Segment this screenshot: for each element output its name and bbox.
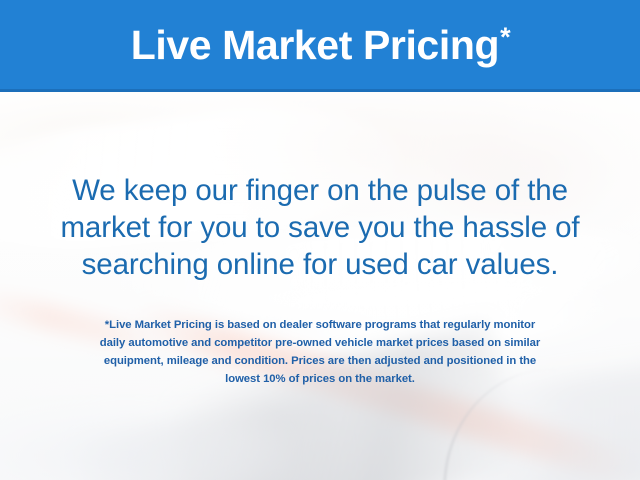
live-market-pricing-banner: Live Market Pricing* We keep our finger … xyxy=(0,0,640,480)
headline-line-3: searching online for used car values. xyxy=(0,246,640,283)
headline-line-1: We keep our finger on the pulse of the xyxy=(0,172,640,209)
page-title-text: Live Market Pricing xyxy=(131,22,499,68)
page-title-asterisk: * xyxy=(500,22,510,52)
disclaimer-line-4: lowest 10% of prices on the market. xyxy=(0,370,640,388)
disclaimer-line-1: *Live Market Pricing is based on dealer … xyxy=(0,316,640,334)
disclaimer-line-2: daily automotive and competitor pre-owne… xyxy=(0,334,640,352)
disclaimer-text: *Live Market Pricing is based on dealer … xyxy=(0,316,640,388)
header-band: Live Market Pricing* xyxy=(0,0,640,92)
headline-line-2: market for you to save you the hassle of xyxy=(0,209,640,246)
headline: We keep our finger on the pulse of the m… xyxy=(0,172,640,283)
disclaimer-line-3: equipment, mileage and condition. Prices… xyxy=(0,352,640,370)
page-title: Live Market Pricing* xyxy=(131,25,509,66)
